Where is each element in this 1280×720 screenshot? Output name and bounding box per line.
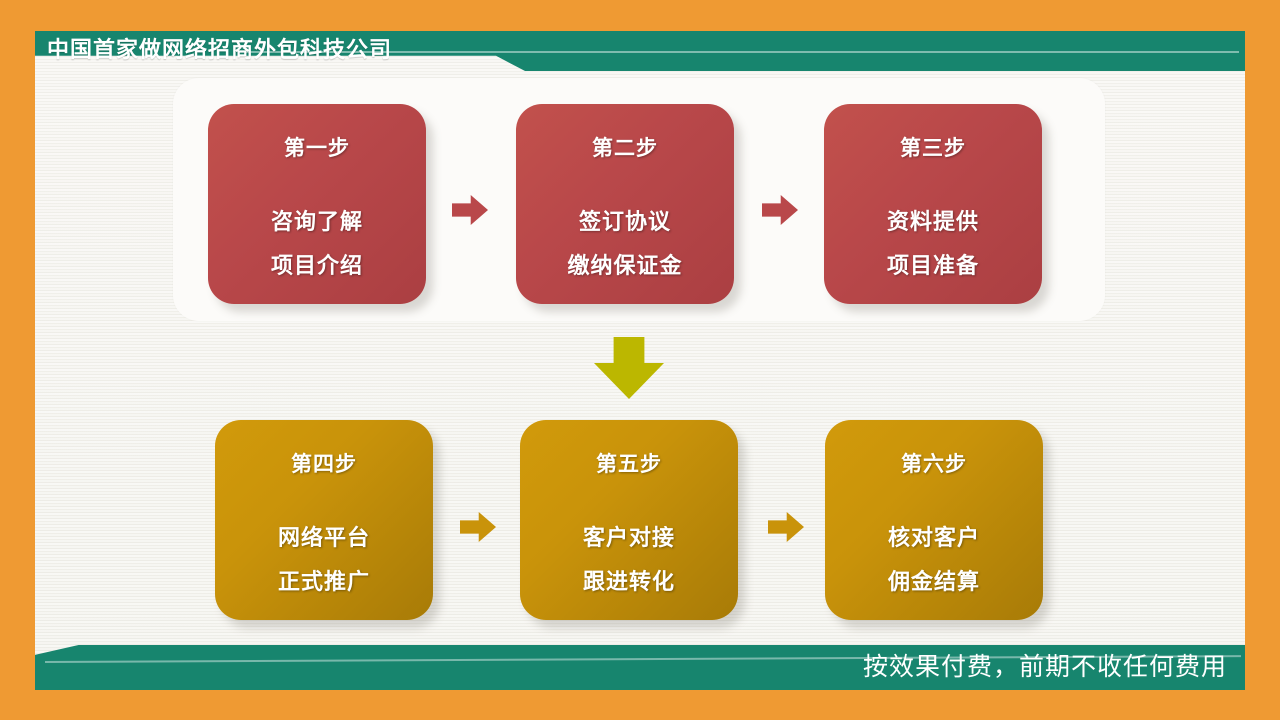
step-card-1-line-1: 咨询了解 bbox=[271, 200, 363, 244]
slide-root: 中国首家做网络招商外包科技公司 第一步 咨询了解 项目介绍 第二步 签订协议 缴… bbox=[0, 0, 1280, 720]
step-card-3-line-1: 资料提供 bbox=[887, 200, 979, 244]
step-card-6-body: 核对客户 佣金结算 bbox=[888, 516, 980, 604]
step-card-4-line-2: 正式推广 bbox=[278, 560, 370, 604]
step-card-1[interactable]: 第一步 咨询了解 项目介绍 bbox=[208, 104, 426, 304]
step-card-5-title: 第五步 bbox=[596, 448, 662, 478]
footer-tagline: 按效果付费，前期不收任何费用 bbox=[863, 650, 1227, 684]
step-card-3[interactable]: 第三步 资料提供 项目准备 bbox=[824, 104, 1042, 304]
step-card-1-line-2: 项目介绍 bbox=[271, 244, 363, 288]
step-card-4-body: 网络平台 正式推广 bbox=[278, 516, 370, 604]
step-card-5-line-1: 客户对接 bbox=[583, 516, 675, 560]
step-card-6-line-2: 佣金结算 bbox=[888, 560, 980, 604]
step-card-2-body: 签订协议 缴纳保证金 bbox=[567, 200, 682, 288]
step-card-3-title: 第三步 bbox=[900, 132, 966, 162]
step-card-2-line-2: 缴纳保证金 bbox=[567, 244, 682, 288]
step-card-4-title: 第四步 bbox=[291, 448, 357, 478]
step-card-2-line-1: 签订协议 bbox=[567, 200, 682, 244]
step-card-2-title: 第二步 bbox=[592, 132, 658, 162]
step-card-6-line-1: 核对客户 bbox=[888, 516, 980, 560]
step-card-6-title: 第六步 bbox=[901, 448, 967, 478]
step-card-3-body: 资料提供 项目准备 bbox=[887, 200, 979, 288]
step-card-4[interactable]: 第四步 网络平台 正式推广 bbox=[215, 420, 433, 620]
step-card-5-line-2: 跟进转化 bbox=[583, 560, 675, 604]
step-card-3-line-2: 项目准备 bbox=[887, 244, 979, 288]
step-card-5[interactable]: 第五步 客户对接 跟进转化 bbox=[520, 420, 738, 620]
step-card-1-title: 第一步 bbox=[284, 132, 350, 162]
step-card-1-body: 咨询了解 项目介绍 bbox=[271, 200, 363, 288]
step-card-5-body: 客户对接 跟进转化 bbox=[583, 516, 675, 604]
step-card-6[interactable]: 第六步 核对客户 佣金结算 bbox=[825, 420, 1043, 620]
page-title: 中国首家做网络招商外包科技公司 bbox=[47, 36, 392, 64]
step-card-4-line-1: 网络平台 bbox=[278, 516, 370, 560]
step-card-2[interactable]: 第二步 签订协议 缴纳保证金 bbox=[516, 104, 734, 304]
